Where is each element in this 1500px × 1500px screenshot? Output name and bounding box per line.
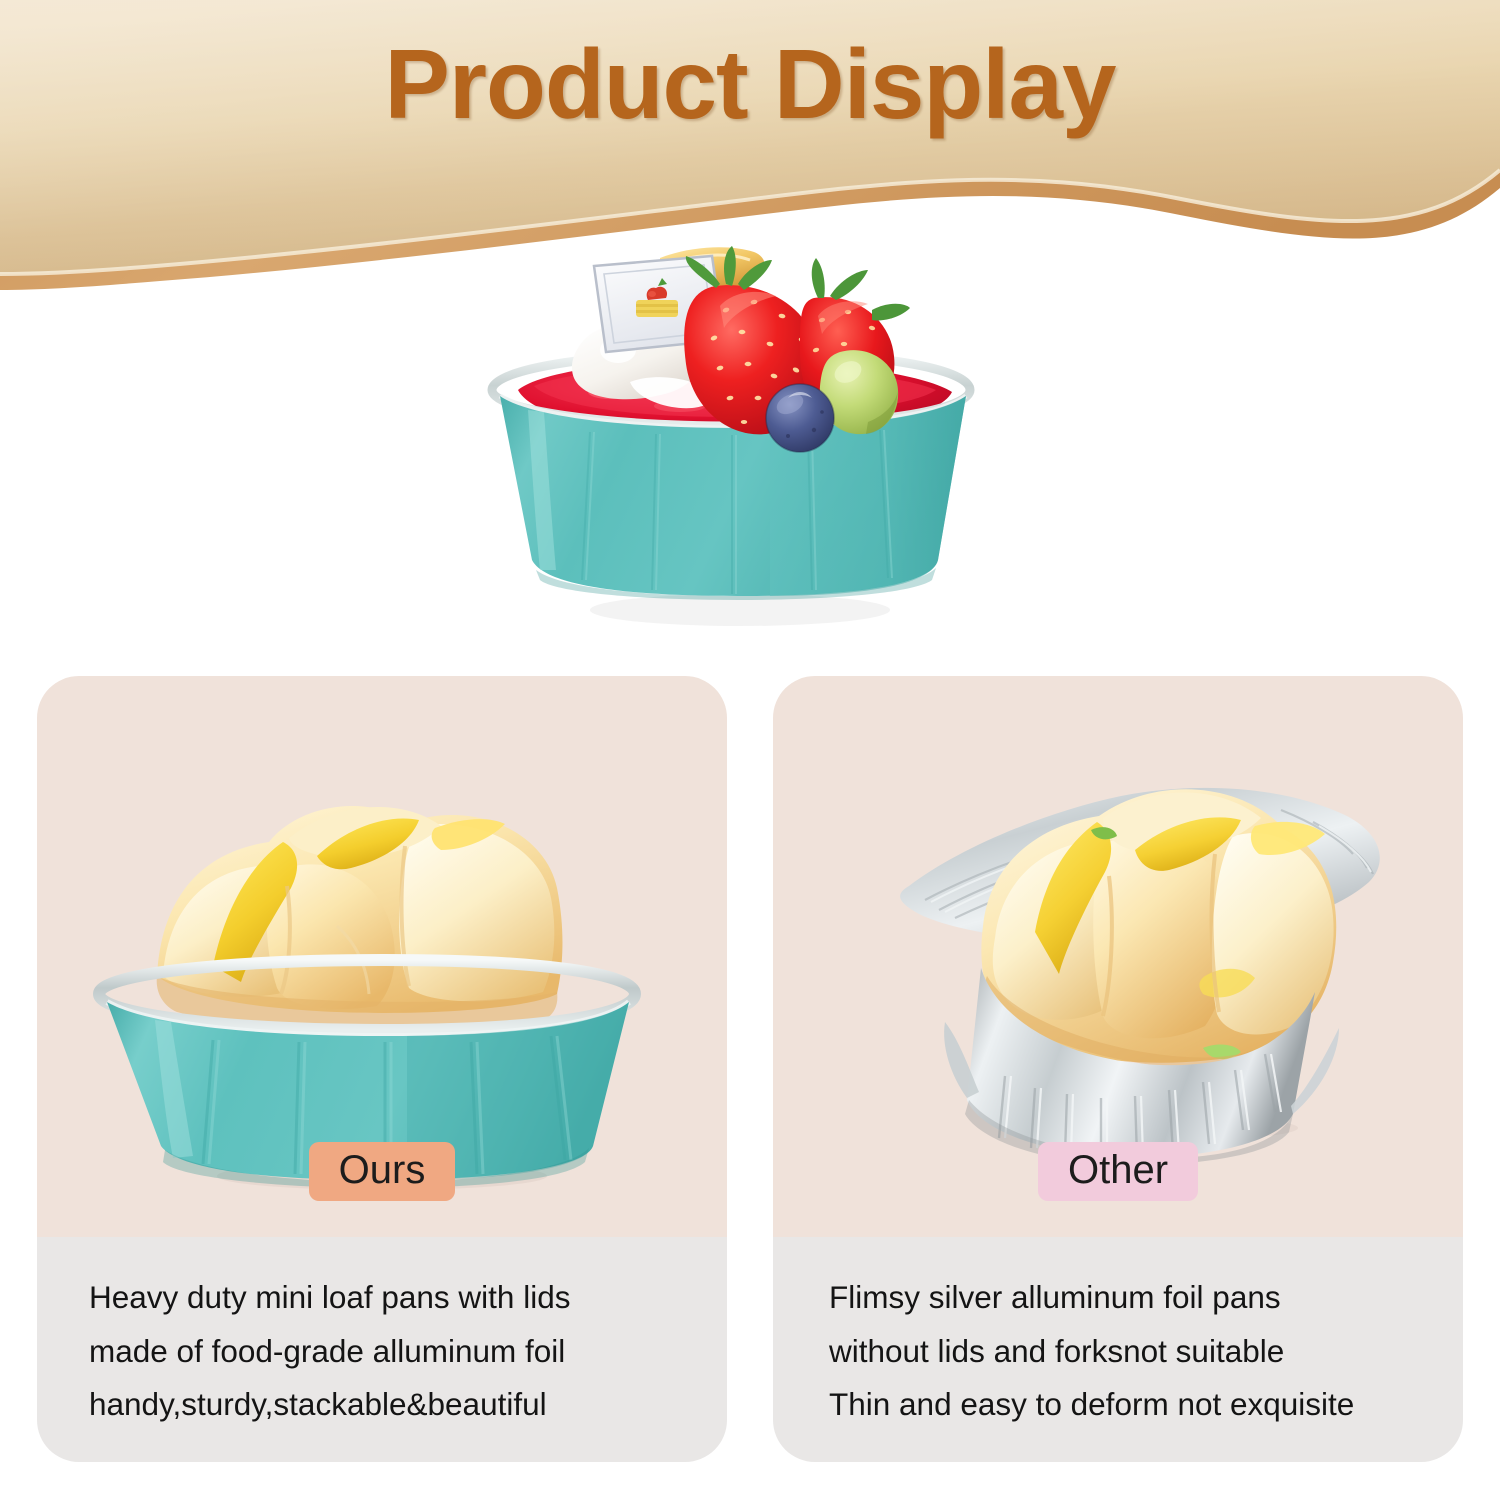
ours-photo-panel: Ours	[37, 676, 727, 1237]
other-badge-wrap: Other	[773, 1142, 1463, 1201]
comparison-section: Ours Heavy duty mini loaf pans with lids…	[0, 676, 1500, 1466]
other-line-2: without lids and forksnot suitable	[829, 1329, 1411, 1374]
comparison-card-other: Other Flimsy silver alluminum foil pans …	[773, 676, 1463, 1462]
ours-line-1: Heavy duty mini loaf pans with lids	[89, 1275, 675, 1320]
hero-product-image	[470, 240, 1010, 640]
other-badge: Other	[1038, 1142, 1198, 1201]
ours-line-2: made of food-grade alluminum foil	[89, 1329, 675, 1374]
bread-loaf	[157, 806, 563, 1029]
ours-description: Heavy duty mini loaf pans with lids made…	[37, 1237, 727, 1462]
other-description: Flimsy silver alluminum foil pans withou…	[773, 1237, 1463, 1462]
ours-badge: Ours	[309, 1142, 456, 1201]
other-line-1: Flimsy silver alluminum foil pans	[829, 1275, 1411, 1320]
ours-line-3: handy,sturdy,stackable&beautiful	[89, 1382, 675, 1427]
comparison-card-ours: Ours Heavy duty mini loaf pans with lids…	[37, 676, 727, 1462]
blueberry	[766, 384, 834, 452]
hero-illustration	[470, 240, 1010, 640]
ours-badge-wrap: Ours	[37, 1142, 727, 1201]
page-title: Product Display	[0, 28, 1500, 141]
other-line-3: Thin and easy to deform not exquisite	[829, 1382, 1411, 1427]
other-photo-panel: Other	[773, 676, 1463, 1237]
